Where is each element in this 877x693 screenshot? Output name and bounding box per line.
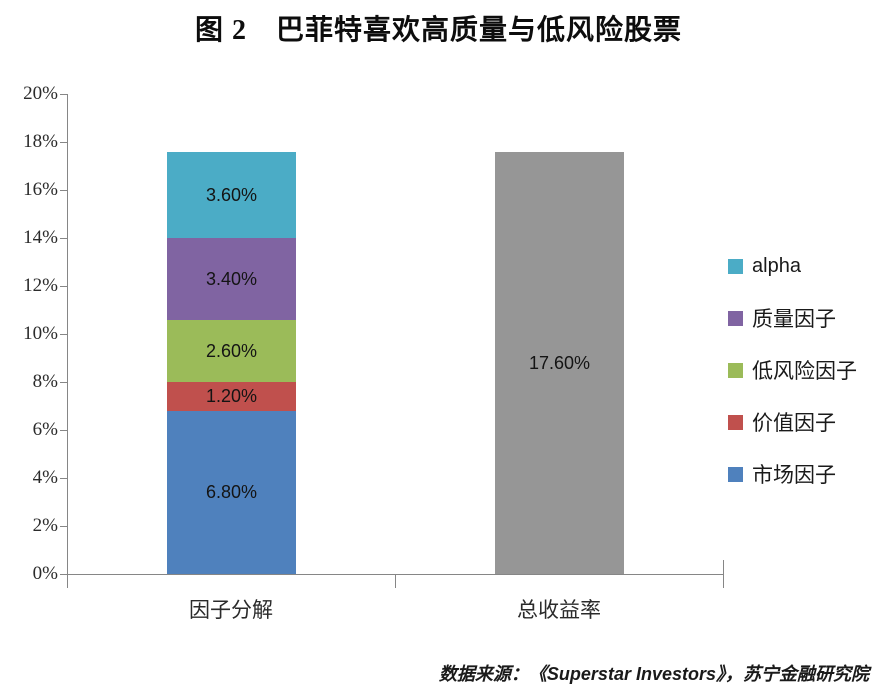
plot-area: 6.80%1.20%2.60%3.40%3.60%17.60% [67, 94, 723, 574]
legend-item[interactable]: 价值因子 [728, 396, 877, 448]
x-axis-tick [395, 574, 396, 588]
y-axis-tick-label: 18% [0, 131, 58, 153]
legend-item[interactable]: 市场因子 [728, 448, 877, 500]
bar-segment[interactable]: 3.60% [167, 152, 296, 238]
legend-item[interactable]: alpha [728, 240, 877, 292]
chart-title: 图 2 巴菲特喜欢高质量与低风险股票 [0, 8, 877, 48]
legend-item-label: alpha [752, 255, 801, 278]
legend-item-label: 价值因子 [752, 407, 836, 437]
y-axis-tick-label: 6% [0, 419, 58, 441]
bar-value-label: 2.60% [206, 341, 257, 362]
y-axis-tick [60, 430, 67, 431]
bar-segment[interactable]: 2.60% [167, 320, 296, 382]
x-axis-tick [723, 574, 724, 588]
y-axis-tick [60, 286, 67, 287]
legend-color-swatch [728, 311, 743, 326]
y-axis-tick [60, 190, 67, 191]
legend-item[interactable]: 质量因子 [728, 292, 877, 344]
x-axis-right-cap [723, 560, 724, 575]
y-axis-tick-label: 0% [0, 563, 58, 585]
bar-segment[interactable]: 6.80% [167, 411, 296, 574]
y-axis-tick [60, 94, 67, 95]
bar-value-label: 3.40% [206, 269, 257, 290]
bar-segment[interactable]: 1.20% [167, 382, 296, 411]
x-axis-category-label: 总收益率 [459, 594, 659, 624]
y-axis-tick [60, 382, 67, 383]
bar-segment[interactable]: 3.40% [167, 238, 296, 320]
legend-color-swatch [728, 415, 743, 430]
y-axis-tick-label: 8% [0, 371, 58, 393]
y-axis-tick-label: 10% [0, 323, 58, 345]
y-axis-tick-label: 16% [0, 179, 58, 201]
x-axis-tick [67, 574, 68, 588]
y-axis-tick [60, 478, 67, 479]
y-axis-line [67, 94, 68, 575]
bar-value-label: 1.20% [206, 386, 257, 407]
y-axis-tick [60, 574, 67, 575]
y-axis-tick [60, 142, 67, 143]
legend-color-swatch [728, 259, 743, 274]
y-axis-tick-label: 2% [0, 515, 58, 537]
y-axis-tick [60, 238, 67, 239]
bar-segment[interactable]: 17.60% [495, 152, 624, 574]
legend-item-label: 市场因子 [752, 459, 836, 489]
y-axis-tick-label: 20% [0, 83, 58, 105]
y-axis-tick [60, 334, 67, 335]
bar-value-label: 17.60% [529, 353, 590, 374]
chart-legend: alpha质量因子低风险因子价值因子市场因子 [728, 240, 877, 500]
x-axis-category-label: 因子分解 [131, 594, 331, 624]
y-axis-tick-label: 12% [0, 275, 58, 297]
bar-value-label: 3.60% [206, 185, 257, 206]
y-axis-tick-label: 4% [0, 467, 58, 489]
legend-item[interactable]: 低风险因子 [728, 344, 877, 396]
source-note: 数据来源：《Superstar Investors》，苏宁金融研究院 [439, 660, 869, 686]
legend-item-label: 低风险因子 [752, 355, 857, 385]
bar-value-label: 6.80% [206, 482, 257, 503]
legend-item-label: 质量因子 [752, 303, 836, 333]
y-axis-tick [60, 526, 67, 527]
legend-color-swatch [728, 363, 743, 378]
y-axis-tick-label: 14% [0, 227, 58, 249]
legend-color-swatch [728, 467, 743, 482]
